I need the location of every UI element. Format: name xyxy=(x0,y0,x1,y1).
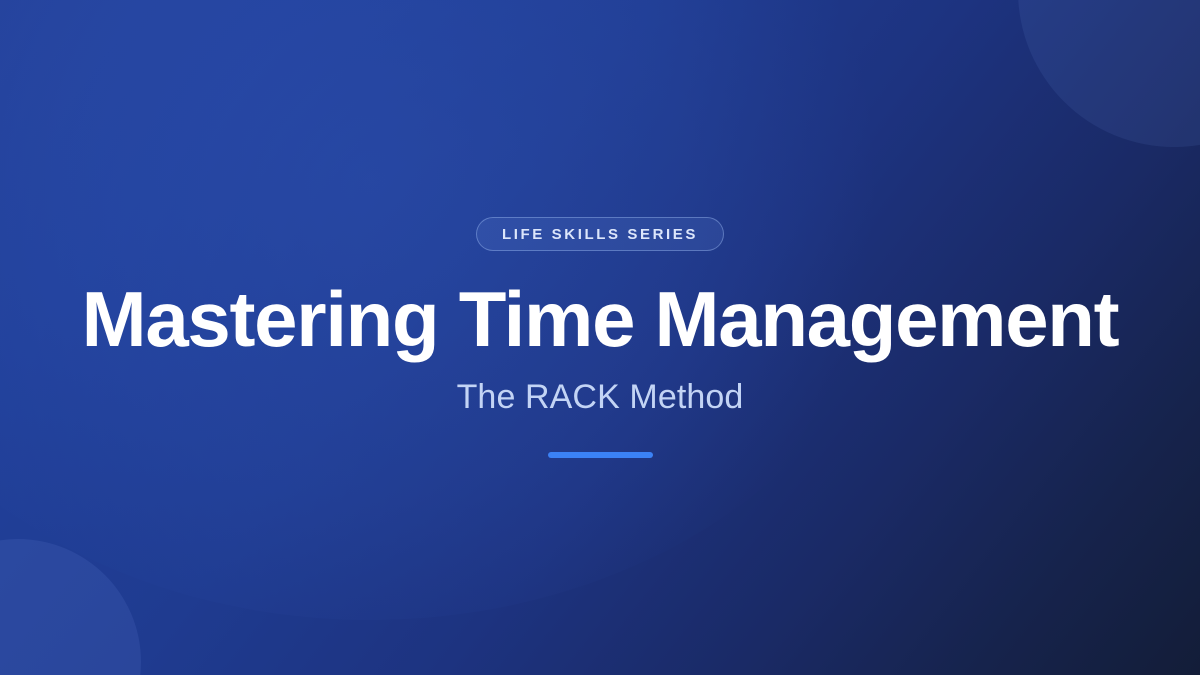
accent-divider xyxy=(548,452,653,458)
slide-content: LIFE SKILLS SERIES Mastering Time Manage… xyxy=(0,0,1200,675)
title-slide: LIFE SKILLS SERIES Mastering Time Manage… xyxy=(0,0,1200,675)
slide-subtitle: The RACK Method xyxy=(457,377,744,418)
series-badge: LIFE SKILLS SERIES xyxy=(476,217,724,251)
slide-title: Mastering Time Management xyxy=(82,279,1119,361)
